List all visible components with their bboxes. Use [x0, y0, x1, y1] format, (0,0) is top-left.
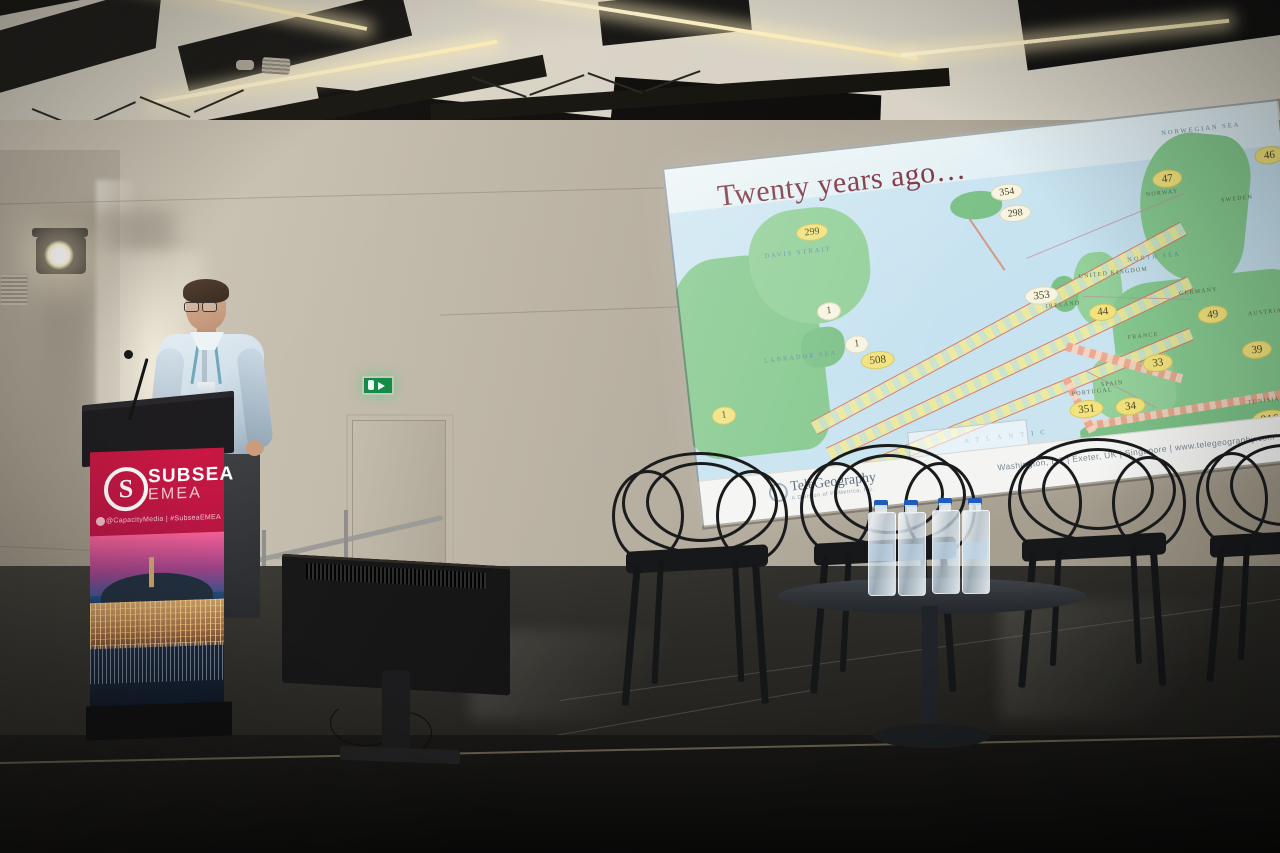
- water-bottle-3[interactable]: [932, 498, 958, 594]
- microphone-capsule: [124, 350, 133, 359]
- spotlight-lens: [44, 240, 74, 270]
- twitter-icon: [96, 517, 105, 526]
- bottle-label: [869, 544, 894, 561]
- subsea-logo-icon: S: [104, 466, 148, 512]
- wall-vent-top-left: [0, 274, 28, 306]
- chair-leg-front-left: [1206, 548, 1225, 682]
- conference-photo-scene: NORWEGIAN SEA LABRADOR SEA DAVIS STRAIT …: [0, 0, 1280, 853]
- chair-leg-back-left: [1238, 544, 1250, 660]
- chair-back-ribbon-left: [1196, 452, 1268, 546]
- side-table[interactable]: [778, 578, 1086, 778]
- monitor-stand-column: [382, 670, 410, 756]
- stage-spotlight: [28, 228, 92, 282]
- eyeglasses-right-lens: [202, 302, 217, 312]
- chair-back-ribbon-left: [800, 462, 872, 554]
- podium: S SUBSEA EMEA @CapacityMedia | #SubseaEM…: [84, 404, 232, 746]
- exit-running-man-icon: [368, 380, 374, 390]
- eyeglasses-left-lens: [184, 302, 199, 312]
- chair-leg-back-left: [652, 560, 664, 684]
- chair-leg-front-right: [1150, 552, 1166, 686]
- photo-boat-masts: [90, 641, 224, 684]
- ceiling-downlight: [236, 60, 254, 70]
- exit-sign: [362, 376, 394, 395]
- chair-back-ribbon-left: [1008, 456, 1082, 550]
- chair-leg-back-right: [1130, 548, 1142, 664]
- chair-leg-back-right: [732, 560, 744, 682]
- bottle-label: [933, 542, 958, 559]
- speaker-hair: [183, 279, 229, 303]
- table-column: [922, 606, 938, 732]
- chair-4[interactable]: [1196, 434, 1280, 686]
- chair-leg-front-left: [622, 564, 641, 706]
- water-bottle-2[interactable]: [898, 500, 924, 596]
- bottle-label: [899, 544, 924, 561]
- photo-basilica-spire: [149, 557, 154, 587]
- chair-1[interactable]: [612, 452, 782, 712]
- podium-brand-line2: EMEA: [148, 484, 202, 504]
- podium-brand-panel: S SUBSEA EMEA @CapacityMedia | #SubseaEM…: [90, 448, 224, 543]
- speaker-hand: [246, 440, 263, 456]
- table-foot: [874, 724, 990, 748]
- monitor-stand-base: [340, 746, 460, 764]
- podium-base: [86, 701, 232, 740]
- water-bottle-4[interactable]: [962, 498, 988, 594]
- chair-leg-front-right: [752, 564, 769, 704]
- ceiling-speaker-grille: [261, 57, 290, 75]
- podium-marseille-photo: [90, 532, 224, 713]
- chair-back-ribbon-left: [612, 470, 684, 562]
- stage-apron: [0, 735, 1280, 853]
- subsea-logo-letter: S: [119, 476, 133, 503]
- confidence-monitor: [282, 560, 510, 770]
- bottle-label: [963, 542, 988, 559]
- water-bottle-1[interactable]: [868, 500, 894, 596]
- podium-social-handles: @CapacityMedia | #SubseaEMEA: [106, 514, 221, 525]
- exit-arrow-icon: [378, 382, 385, 390]
